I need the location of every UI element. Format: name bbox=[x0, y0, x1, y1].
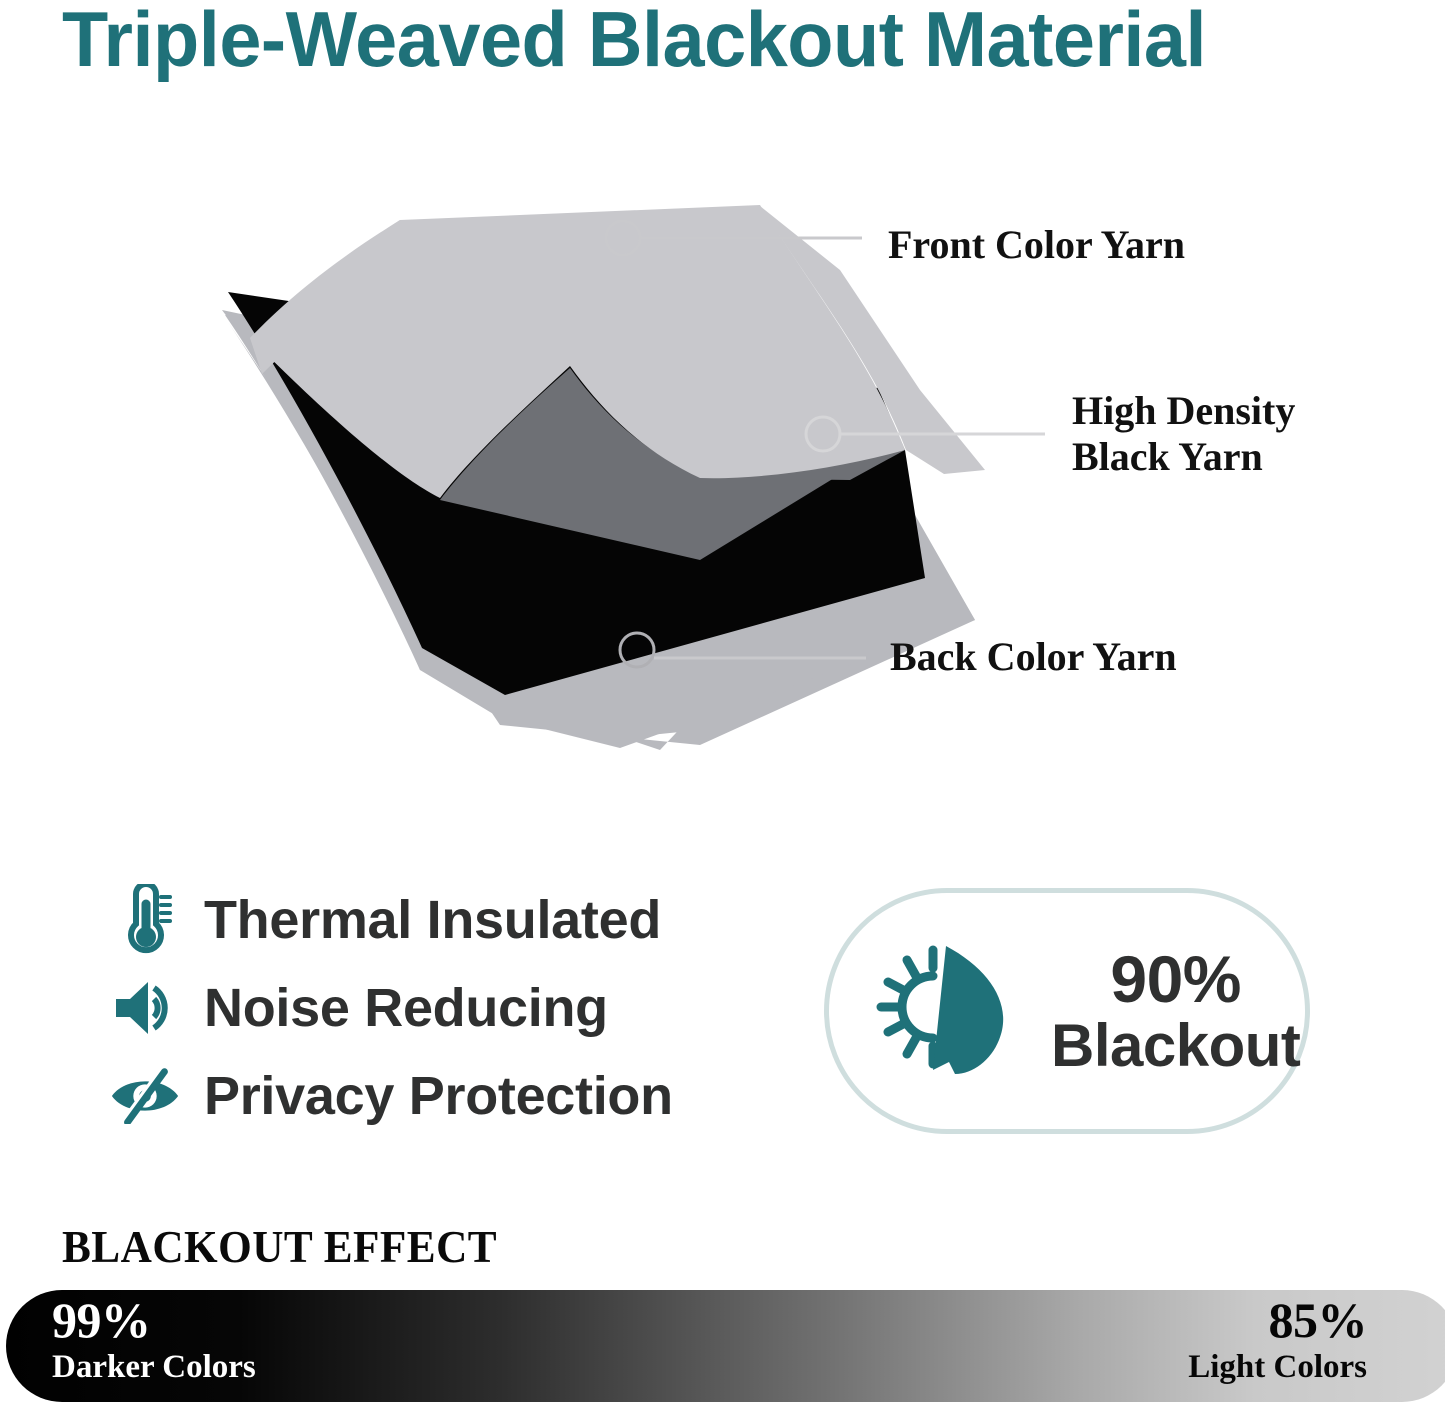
callout-label-high-density-line1: High Density bbox=[1072, 388, 1295, 434]
eye-slash-icon bbox=[108, 1059, 182, 1133]
feature-row-thermal-insulated: Thermal Insulated bbox=[108, 876, 768, 964]
callout-label-front: Front Color Yarn bbox=[888, 222, 1185, 268]
thermometer-icon bbox=[108, 883, 182, 957]
darker-colors-percent: 99% bbox=[52, 1292, 256, 1348]
light-colors-label: Light Colors bbox=[1188, 1348, 1367, 1386]
blackout-badge: 90% Blackout bbox=[824, 888, 1310, 1134]
blackout-effect-heading: BLACKOUT EFFECT bbox=[62, 1222, 497, 1272]
feature-label-noise-reducing: Noise Reducing bbox=[182, 979, 608, 1037]
page-title: Triple-Weaved Blackout Material bbox=[62, 0, 1362, 80]
blackout-effect-light-group: 85% Light Colors bbox=[1188, 1292, 1367, 1386]
feature-row-noise-reducing: Noise Reducing bbox=[108, 964, 768, 1052]
sun-blocked-icon bbox=[863, 936, 1033, 1086]
feature-label-thermal-insulated: Thermal Insulated bbox=[182, 891, 661, 949]
feature-list: Thermal Insulated Noise Reducing bbox=[108, 876, 768, 1140]
speaker-sound-icon bbox=[108, 971, 182, 1045]
feature-label-privacy-protection: Privacy Protection bbox=[182, 1067, 673, 1125]
light-colors-percent: 85% bbox=[1188, 1292, 1367, 1348]
callout-label-high-density-line2: Black Yarn bbox=[1072, 434, 1295, 480]
darker-colors-label: Darker Colors bbox=[52, 1348, 256, 1386]
blackout-effect-darker-group: 99% Darker Colors bbox=[52, 1292, 256, 1386]
callout-label-back: Back Color Yarn bbox=[890, 634, 1177, 680]
blackout-badge-text: 90% Blackout bbox=[1033, 944, 1300, 1078]
blackout-word: Blackout bbox=[1051, 1014, 1300, 1078]
blackout-percent: 90% bbox=[1051, 944, 1300, 1014]
callout-label-high-density: High Density Black Yarn bbox=[1072, 388, 1295, 480]
feature-row-privacy-protection: Privacy Protection bbox=[108, 1052, 768, 1140]
